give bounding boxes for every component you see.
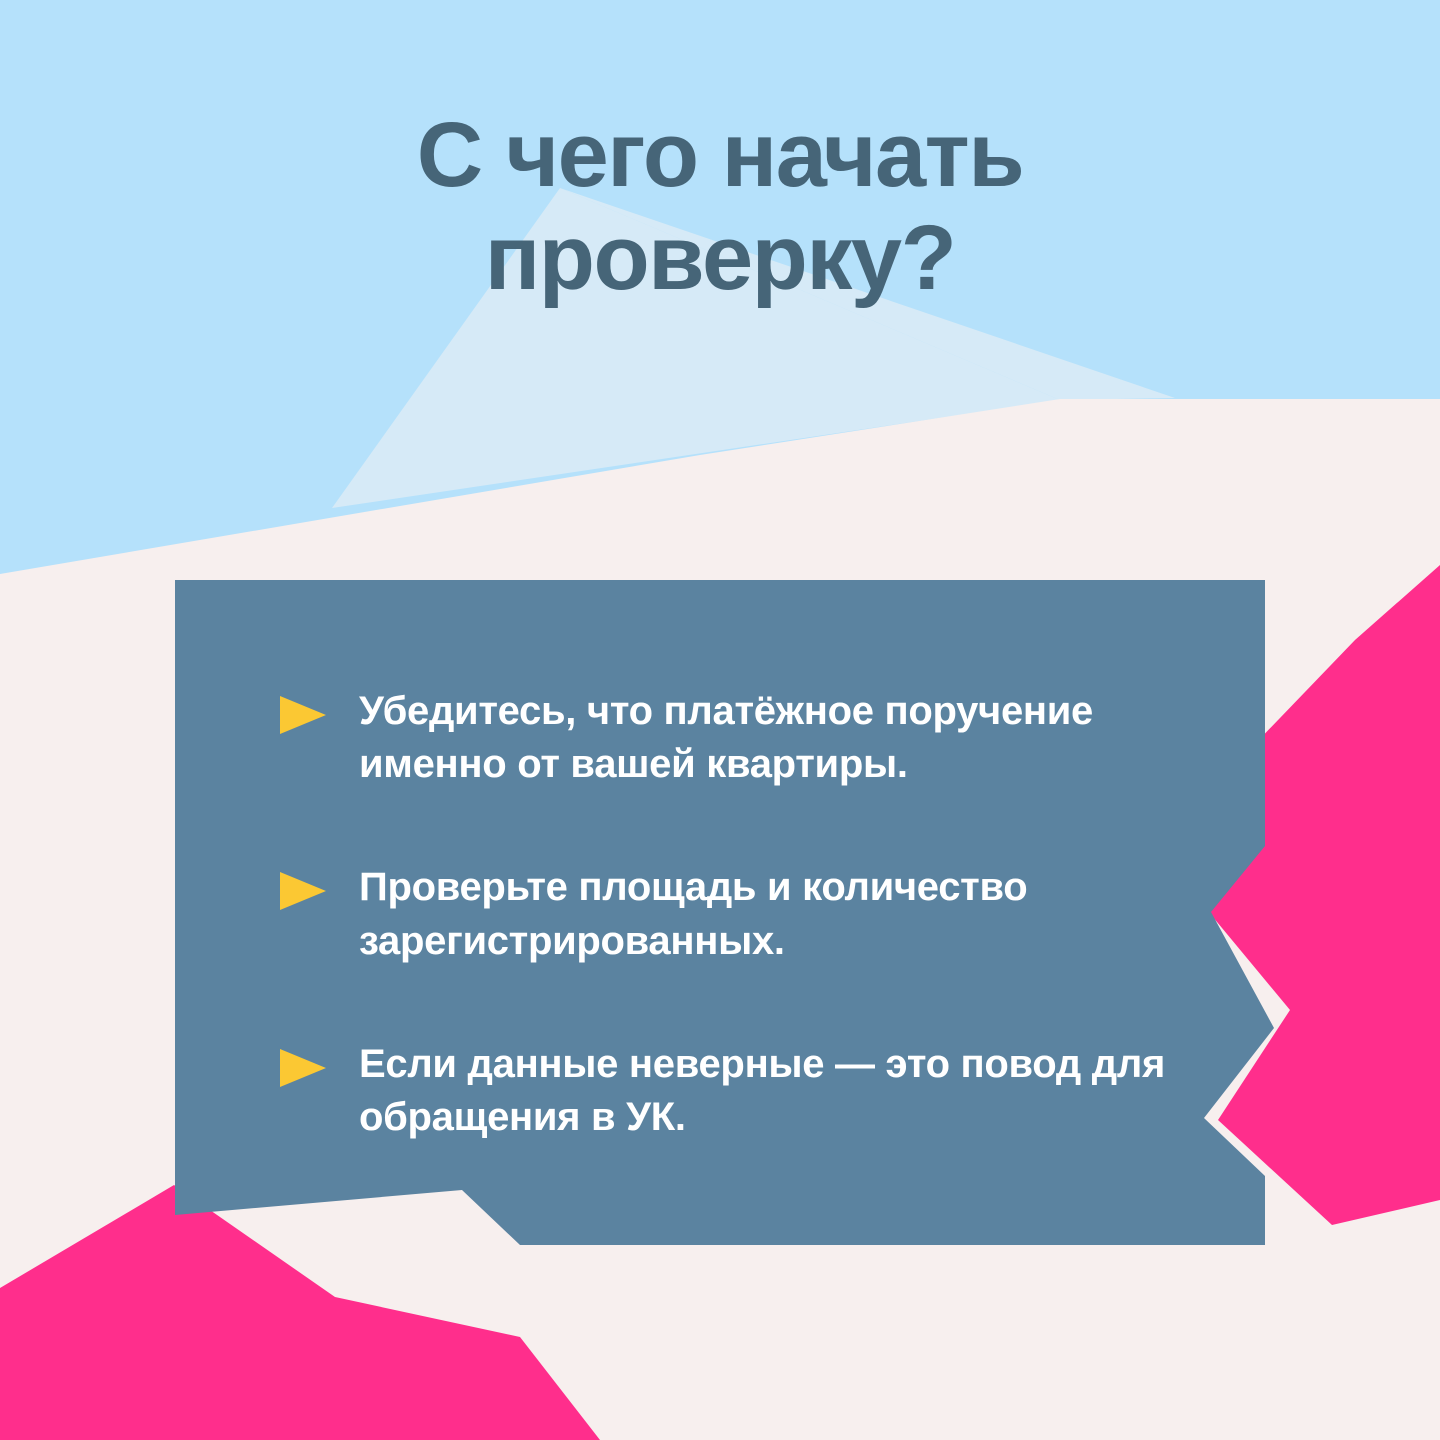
checklist-card: Убедитесь, что платёжное поручение именн… bbox=[175, 580, 1265, 1245]
list-item: Если данные неверные — это повод для обр… bbox=[280, 1038, 1265, 1144]
yellow-triangle-bullet-icon bbox=[280, 696, 326, 734]
title-line-1: С чего начать bbox=[0, 104, 1440, 207]
page-title: С чего начать проверку? bbox=[0, 104, 1440, 310]
title-line-2: проверку? bbox=[0, 207, 1440, 310]
list-item: Убедитесь, что платёжное поручение именн… bbox=[280, 685, 1265, 791]
yellow-triangle-bullet-icon bbox=[280, 872, 326, 910]
list-item-text: Если данные неверные — это повод для обр… bbox=[359, 1038, 1239, 1144]
list-item-text: Убедитесь, что платёжное поручение именн… bbox=[359, 685, 1239, 791]
list-item-text: Проверьте площадь и количество зарегистр… bbox=[359, 861, 1239, 967]
poster-canvas: С чего начать проверку? Убедитесь, что п… bbox=[0, 0, 1440, 1440]
yellow-triangle-bullet-icon bbox=[280, 1049, 326, 1087]
list-item: Проверьте площадь и количество зарегистр… bbox=[280, 861, 1265, 967]
